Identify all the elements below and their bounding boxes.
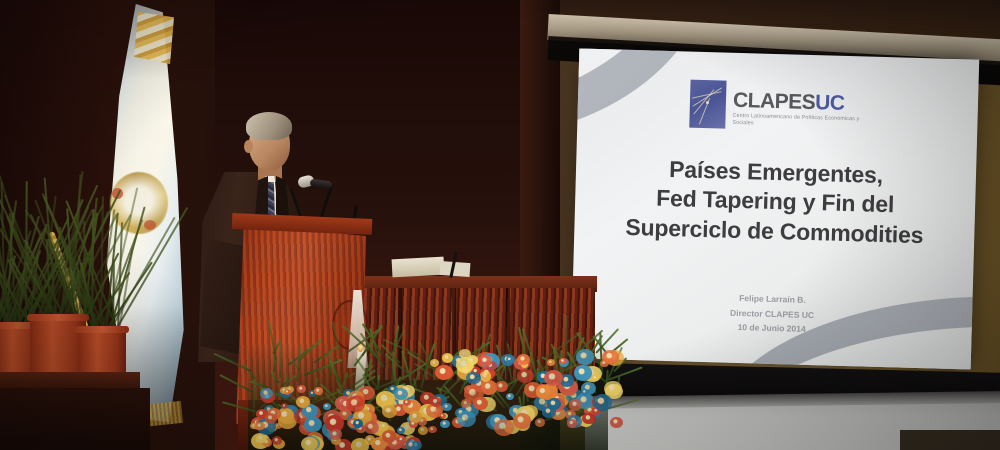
- flower-bloom: [430, 397, 441, 407]
- flower-bloom: [479, 355, 492, 367]
- flower-bloom: [379, 422, 389, 431]
- photo-scene: CLAPESUC Centro Latinoamericano de Polít…: [0, 0, 1000, 450]
- clapes-logo: CLAPESUC Centro Latinoamericano de Polít…: [689, 80, 865, 133]
- flower-bloom: [495, 381, 508, 392]
- flower-bloom: [346, 396, 364, 412]
- clapes-logo-subtitle: Centro Latinoamericano de Políticas Econ…: [732, 113, 864, 131]
- flower-bloom: [559, 358, 566, 364]
- speaker-ear: [244, 140, 253, 153]
- flower-bloom: [592, 375, 599, 381]
- flag-crest-accent-2: [144, 220, 156, 230]
- flower-bloom: [409, 411, 422, 422]
- flower-pot: [78, 326, 126, 378]
- foliage-leaf: [279, 345, 281, 378]
- flower-bloom: [353, 419, 363, 428]
- flower-bloom: [457, 411, 476, 427]
- slide-footer: Felipe Larraín B. Director CLAPES UC 10 …: [572, 287, 973, 342]
- flower-bloom: [535, 418, 545, 427]
- flower-bloom: [323, 403, 331, 410]
- flower-bloom: [304, 417, 321, 432]
- slide-content: CLAPESUC Centro Latinoamericano de Polít…: [571, 48, 979, 369]
- slide-surface: CLAPESUC Centro Latinoamericano de Polít…: [571, 48, 979, 369]
- flower-bloom: [418, 426, 428, 435]
- flower-bloom: [600, 360, 609, 367]
- table-papers: [392, 257, 445, 278]
- flower-bloom: [301, 437, 317, 450]
- flower-bloom: [329, 429, 341, 440]
- clapes-logo-name-primary: CLAPES: [733, 89, 816, 114]
- clapes-logo-mark-icon: [689, 80, 726, 129]
- flower-bloom: [581, 389, 589, 395]
- clapes-logo-name: CLAPESUC: [733, 90, 866, 115]
- flower-bloom: [494, 419, 514, 436]
- flower-bloom: [442, 353, 453, 362]
- flower-bloom: [382, 430, 396, 442]
- flag-gold-band: [134, 12, 174, 64]
- flower-bloom: [582, 413, 596, 425]
- clapes-logo-text: CLAPESUC Centro Latinoamericano de Polít…: [732, 81, 865, 131]
- flower-bloom: [256, 434, 266, 443]
- flower-bloom: [265, 413, 277, 423]
- flower-bloom: [542, 406, 555, 418]
- flower-bloom: [260, 388, 273, 399]
- flower-bloom: [314, 387, 323, 395]
- flower-bloom: [517, 369, 534, 384]
- plant-shelf-base: [0, 388, 150, 450]
- flower-bloom: [513, 413, 531, 429]
- flower-bloom: [517, 354, 530, 365]
- flower-bloom: [473, 397, 488, 410]
- flower-bloom: [351, 438, 369, 450]
- flower-bloom: [442, 403, 452, 411]
- clapes-logo-name-accent: UC: [815, 91, 845, 115]
- speaker-hair: [246, 112, 292, 140]
- projection-screen: CLAPESUC Centro Latinoamericano de Polít…: [571, 48, 979, 369]
- flower-bloom: [547, 359, 555, 366]
- flower-bloom: [397, 436, 405, 443]
- floor-bottom-shadow: [900, 430, 1000, 450]
- flower-bloom: [405, 440, 418, 450]
- flower-bloom: [480, 371, 492, 381]
- flower-bloom: [569, 399, 582, 411]
- flower-bloom: [397, 427, 404, 433]
- flower-bloom: [272, 436, 282, 445]
- slide-title: Países Emergentes, Fed Tapering y Fin de…: [592, 153, 958, 251]
- flower-bloom: [255, 422, 265, 430]
- flower-bloom: [544, 370, 563, 386]
